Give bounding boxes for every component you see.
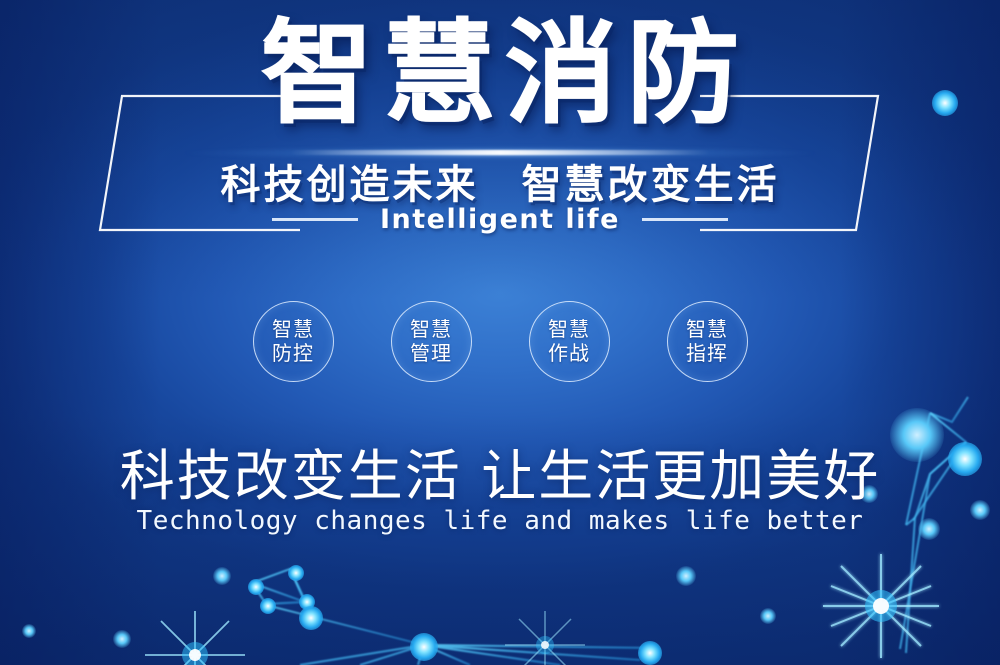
divider-line-right — [642, 218, 728, 221]
badge-group: 智慧 防控 智慧 管理 智慧 作战 智慧 指挥 — [0, 301, 1000, 382]
slogan-english: Technology changes life and makes life b… — [0, 506, 1000, 536]
badge-line-1: 智慧 — [686, 318, 728, 341]
slogan-chinese: 科技改变生活 让生活更加美好 — [0, 431, 1000, 511]
badge-line-2: 防控 — [272, 342, 314, 365]
badge-line-2: 指挥 — [686, 342, 728, 365]
badge-line-2: 管理 — [410, 342, 452, 365]
badge-line-1: 智慧 — [410, 318, 452, 341]
badge-smart-operations[interactable]: 智慧 作战 — [529, 301, 610, 382]
divider-line-left — [272, 218, 358, 221]
badge-line-2: 作战 — [548, 342, 590, 365]
badge-line-1: 智慧 — [548, 318, 590, 341]
badge-smart-prevention[interactable]: 智慧 防控 — [253, 301, 334, 382]
page-title: 智慧消防 — [0, 14, 1000, 135]
english-subtitle: Intelligent life — [380, 204, 620, 235]
badge-smart-command[interactable]: 智慧 指挥 — [667, 301, 748, 382]
english-subtitle-row: Intelligent life — [0, 204, 1000, 235]
poster-canvas: 智慧消防 科技创造未来 智慧改变生活 Intelligent life 智慧 防… — [0, 0, 1000, 665]
title-block: 智慧消防 — [0, 14, 1000, 135]
subtitle: 科技创造未来 智慧改变生活 — [0, 152, 1000, 210]
badge-line-1: 智慧 — [272, 318, 314, 341]
badge-smart-management[interactable]: 智慧 管理 — [391, 301, 472, 382]
